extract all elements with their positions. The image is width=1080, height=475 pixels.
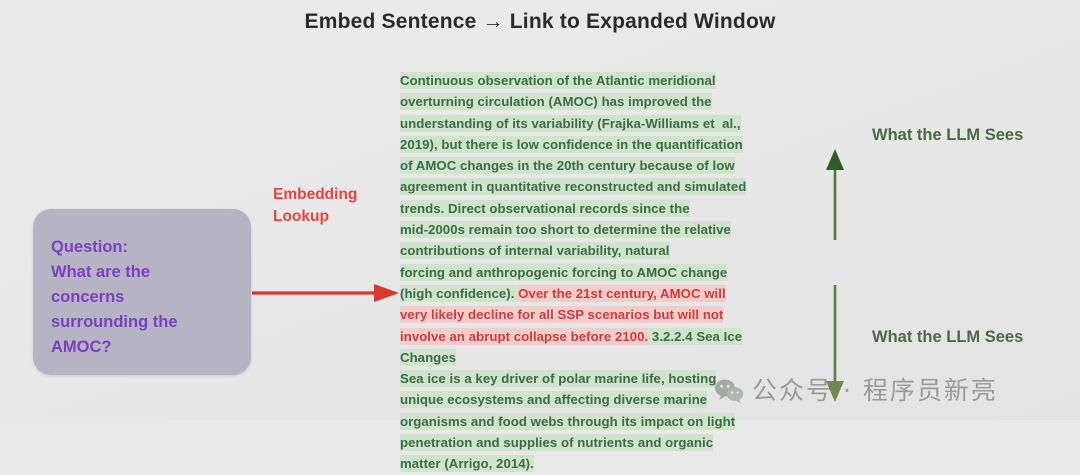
passage-line: overturning circulation (AMOC) has impro… [400,91,800,112]
wechat-icon [714,378,744,404]
passage-line: Changes [400,347,800,368]
passage-segment-green: unique ecosystems and affecting diverse … [400,391,707,408]
passage-segment-green: 3.2.2.4 Sea Ice [648,328,742,345]
passage-segment-green: Sea ice is a key driver of polar marine … [400,370,716,387]
passage-segment-green: matter (Arrigo, 2014). [400,455,534,472]
passage-line: understanding of its variability (Frajka… [400,113,800,134]
passage-segment-green: Continuous observation of the Atlantic m… [400,72,716,89]
slide-canvas: Embed Sentence → Link to Expanded Window… [0,0,1080,420]
passage-segment-green: agreement in quantitative reconstructed … [400,178,746,195]
embedding-lookup-label: Embedding Lookup [273,184,357,228]
passage-line: agreement in quantitative reconstructed … [400,176,800,197]
question-text: Question: What are the concerns surround… [51,235,236,360]
passage-line: very likely decline for all SSP scenario… [400,304,800,325]
passage-segment-green: 2019), but there is low confidence in th… [400,136,743,153]
passage-line: 2019), but there is low confidence in th… [400,134,800,155]
llm-sees-label-top: What the LLM Sees [872,126,1023,145]
watermark-text: 公众号 · 程序员新亮 [752,371,998,407]
passage-line: penetration and supplies of nutrients an… [400,432,800,453]
passage-segment-green: overturning circulation (AMOC) has impro… [400,93,712,110]
passage-segment-red: very likely decline for all SSP scenario… [400,306,723,323]
passage-line: organisms and food webs through its impa… [400,411,800,432]
embedding-lookup-arrow-icon [252,282,400,304]
passage-line: of AMOC changes in the 20th century beca… [400,155,800,176]
passage-line: involve an abrupt collapse before 2100. … [400,326,800,347]
page-title: Embed Sentence → Link to Expanded Window [0,10,1080,34]
passage-segment-green: organisms and food webs through its impa… [400,413,735,430]
passage-segment-red: Over the 21st century, AMOC will [518,285,726,302]
passage-segment-green: Changes [400,349,456,366]
passage-segment-green: (high confidence). [400,285,518,302]
passage-segment-green: forcing and anthropogenic forcing to AMO… [400,264,727,281]
passage-line: forcing and anthropogenic forcing to AMO… [400,262,800,283]
passage-line: matter (Arrigo, 2014). [400,453,800,474]
passage-segment-green: mid-2000s remain too short to determine … [400,221,731,238]
arrow-up-icon [822,148,848,240]
passage-segment-green: of AMOC changes in the 20th century beca… [400,157,735,174]
passage-segment-green: contributions of internal variability, n… [400,242,670,259]
passage-line: trends. Direct observational records sin… [400,198,800,219]
passage-segment-green: penetration and supplies of nutrients an… [400,434,713,451]
passage-segment-red: involve an abrupt collapse before 2100. [400,328,648,345]
passage-line: Continuous observation of the Atlantic m… [400,70,800,91]
passage-line: contributions of internal variability, n… [400,240,800,261]
passage-segment-green: trends. Direct observational records sin… [400,200,690,217]
passage-line: mid-2000s remain too short to determine … [400,219,800,240]
question-box: Question: What are the concerns surround… [33,209,251,375]
llm-sees-label-bottom: What the LLM Sees [872,328,1023,347]
passage-segment-green: understanding of its variability (Frajka… [400,115,741,132]
passage-line: (high confidence). Over the 21st century… [400,283,800,304]
retrieved-passage: Continuous observation of the Atlantic m… [400,70,800,475]
